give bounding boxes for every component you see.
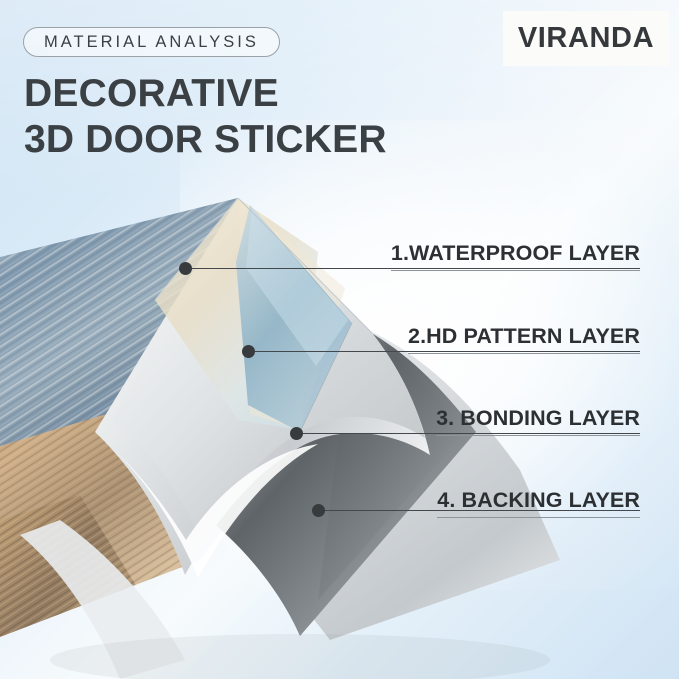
callout-label: 4. BACKING LAYER	[437, 490, 640, 517]
callout-dot-1	[179, 262, 192, 275]
callout-dot-4	[312, 504, 325, 517]
callout-underline	[436, 435, 640, 436]
page-title-line-1: DECORATIVE	[24, 74, 279, 113]
eyebrow-label: MATERIAL ANALYSIS	[44, 33, 259, 52]
callout-underline	[391, 270, 640, 271]
callout-bonding-layer: 3. BONDING LAYER	[436, 408, 640, 436]
leader-line-2	[248, 351, 640, 352]
callout-underline	[437, 517, 640, 518]
leader-line-4	[318, 510, 640, 511]
callout-dot-2	[242, 345, 255, 358]
callout-label: 1.WATERPROOF LAYER	[391, 243, 640, 270]
eyebrow-badge: MATERIAL ANALYSIS	[23, 27, 280, 57]
callout-label: 2.HD PATTERN LAYER	[408, 326, 640, 353]
leader-line-3	[296, 433, 640, 434]
leader-line-1	[185, 268, 640, 269]
callout-waterproof-layer: 1.WATERPROOF LAYER	[391, 243, 640, 271]
callout-label: 3. BONDING LAYER	[436, 408, 640, 435]
callout-hd-pattern-layer: 2.HD PATTERN LAYER	[408, 326, 640, 354]
brand-logo-box: VIRANDA	[503, 11, 669, 66]
brand-logo-text: VIRANDA	[518, 22, 654, 55]
callout-dot-3	[290, 427, 303, 440]
page-title-line-2: 3D DOOR STICKER	[24, 120, 387, 159]
callout-underline	[408, 353, 640, 354]
callout-backing-layer: 4. BACKING LAYER	[437, 490, 640, 518]
material-analysis-infographic: MATERIAL ANALYSIS DECORATIVE 3D DOOR STI…	[0, 0, 679, 679]
